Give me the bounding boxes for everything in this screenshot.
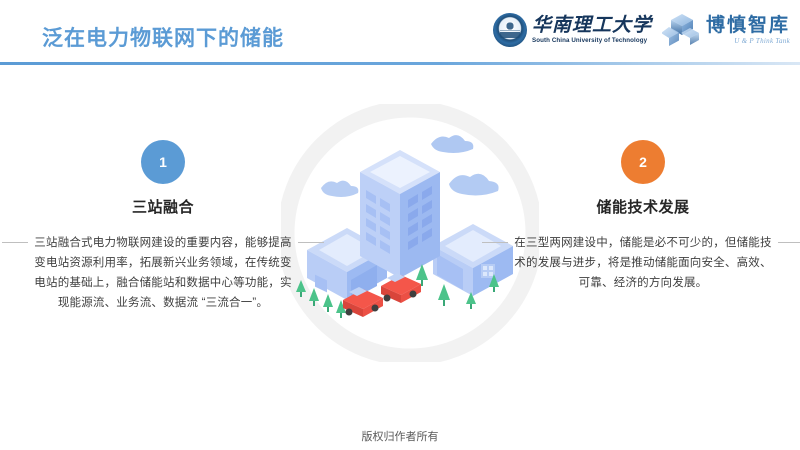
university-logo-text: 华南理工大学 South China University of Technol… — [532, 16, 652, 44]
think-tank-name-en: U & P Think Tank — [734, 38, 790, 45]
accent-dash-right-2 — [778, 242, 800, 243]
column-heading-1: 三站融合 — [28, 196, 298, 217]
university-logo: 华南理工大学 South China University of Technol… — [493, 13, 652, 47]
accent-dash-right-1 — [298, 242, 324, 243]
column-heading-2: 储能技术发展 — [508, 196, 778, 217]
header-divider — [0, 62, 800, 65]
university-name-cn: 华南理工大学 — [532, 16, 652, 35]
column-body-2: 在三型两网建设中，储能是必不可少的，但储能技术的发展与进步，将是推动储能面向安全… — [512, 233, 774, 293]
cube-blocks-icon — [662, 12, 702, 48]
university-name-en: South China University of Technology — [532, 38, 652, 44]
scut-seal-icon — [493, 13, 527, 47]
page-title: 泛在电力物联网下的储能 — [42, 22, 284, 52]
column-body-1: 三站融合式电力物联网建设的重要内容，能够提高变电站资源利用率，拓展新兴业务领域，… — [32, 233, 294, 313]
accent-dash-left-1 — [2, 242, 28, 243]
column-body-wrap-2: 在三型两网建设中，储能是必不可少的，但储能技术的发展与进步，将是推动储能面向安全… — [508, 233, 778, 293]
think-tank-logo: 博慎智库 U & P Think Tank — [662, 12, 790, 48]
step-badge-2: 2 — [621, 140, 665, 184]
slide: 泛在电力物联网下的储能 华南理工大学 South China Universit… — [0, 0, 800, 450]
think-tank-name-cn: 博慎智库 — [706, 16, 790, 35]
think-tank-logo-text: 博慎智库 U & P Think Tank — [706, 16, 790, 45]
copyright-footer: 版权归作者所有 — [0, 428, 800, 444]
content-column-2: 2 储能技术发展 在三型两网建设中，储能是必不可少的，但储能技术的发展与进步，将… — [508, 140, 778, 293]
logo-group: 华南理工大学 South China University of Technol… — [493, 6, 790, 54]
isometric-city-illustration — [281, 104, 539, 362]
column-body-wrap-1: 三站融合式电力物联网建设的重要内容，能够提高变电站资源利用率，拓展新兴业务领域，… — [28, 233, 298, 313]
content-column-1: 1 三站融合 三站融合式电力物联网建设的重要内容，能够提高变电站资源利用率，拓展… — [28, 140, 298, 313]
step-badge-1: 1 — [141, 140, 185, 184]
tower-building — [360, 150, 440, 278]
accent-dash-left-2 — [482, 242, 508, 243]
slide-header: 泛在电力物联网下的储能 华南理工大学 South China Universit… — [0, 0, 800, 66]
